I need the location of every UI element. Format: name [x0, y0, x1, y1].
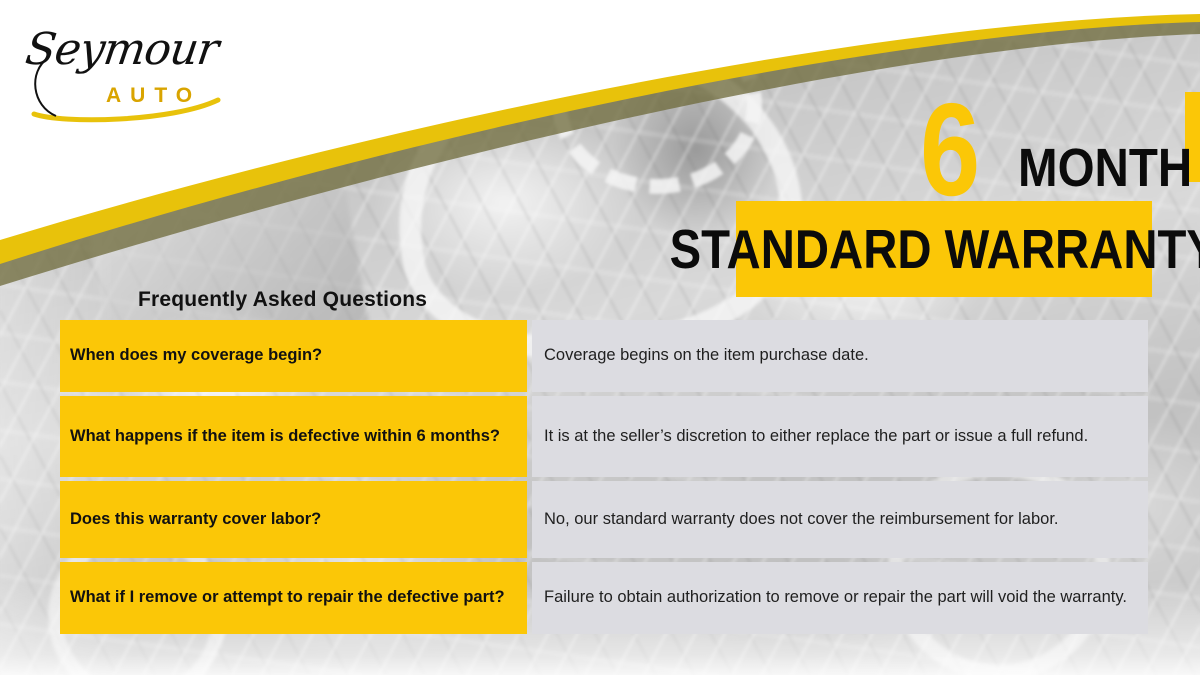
standard-warranty-banner: STANDARD WARRANTY — [736, 201, 1152, 297]
faq-question-text: Does this warranty cover labor? — [70, 509, 321, 530]
faq-answer-text: It is at the seller’s discretion to eith… — [544, 426, 1134, 447]
faq-question-text: What if I remove or attempt to repair th… — [70, 587, 505, 608]
duration-headline: 6 MONTH — [920, 72, 1160, 198]
faq-answer-text: Coverage begins on the item purchase dat… — [544, 345, 1134, 366]
faq-answer-cell: Failure to obtain authorization to remov… — [532, 562, 1148, 634]
faq-row: What happens if the item is defective wi… — [60, 396, 1148, 477]
faq-answer-cell: No, our standard warranty does not cover… — [532, 481, 1148, 558]
faq-heading: Frequently Asked Questions — [138, 288, 427, 312]
warranty-slide: Seymour AUTO 6 MONTH STANDARD WARRANTY F… — [0, 0, 1200, 675]
faq-table: When does my coverage begin? Coverage be… — [60, 320, 1148, 634]
faq-question-text: What happens if the item is defective wi… — [70, 426, 500, 447]
faq-answer-cell: Coverage begins on the item purchase dat… — [532, 320, 1148, 392]
faq-row: What if I remove or attempt to repair th… — [60, 562, 1148, 634]
duration-unit: MONTH — [1018, 146, 1192, 192]
faq-answer-cell: It is at the seller’s discretion to eith… — [532, 396, 1148, 477]
faq-question-text: When does my coverage begin? — [70, 345, 322, 366]
faq-question-cell: What if I remove or attempt to repair th… — [60, 562, 527, 634]
faq-answer-text: No, our standard warranty does not cover… — [544, 509, 1134, 530]
standard-warranty-title: STANDARD WARRANTY — [670, 222, 1200, 277]
duration-number: 6 — [920, 96, 980, 204]
faq-question-cell: Does this warranty cover labor? — [60, 481, 527, 558]
faq-answer-text: Failure to obtain authorization to remov… — [544, 587, 1134, 608]
faq-question-cell: What happens if the item is defective wi… — [60, 396, 527, 477]
faq-row: Does this warranty cover labor? No, our … — [60, 481, 1148, 558]
faq-question-cell: When does my coverage begin? — [60, 320, 527, 392]
seymour-auto-logo[interactable]: Seymour AUTO — [22, 18, 252, 128]
faq-row: When does my coverage begin? Coverage be… — [60, 320, 1148, 392]
logo-swoosh-icon — [22, 18, 252, 128]
